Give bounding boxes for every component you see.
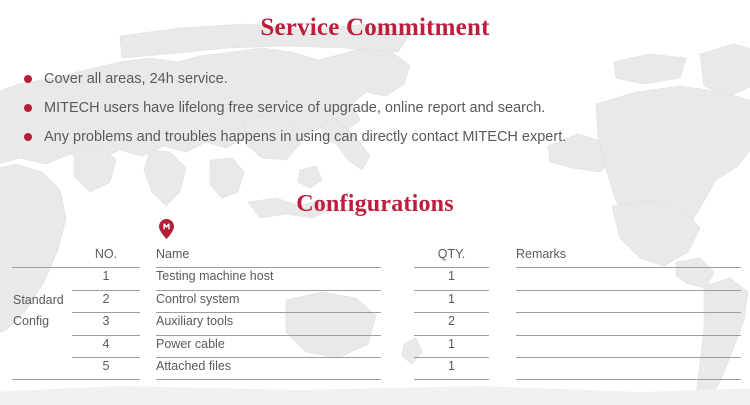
cell-name: Attached files <box>156 358 381 380</box>
list-item-label: MITECH users have lifelong free service … <box>44 100 545 116</box>
header-cell-group <box>12 246 72 268</box>
list-item: MITECH users have lifelong free service … <box>24 93 724 122</box>
cell-remarks <box>516 358 741 380</box>
list-item: Cover all areas, 24h service. <box>24 64 724 93</box>
cell-qty: 1 <box>414 336 489 358</box>
configurations-table: Standard Config NO. Name QTY. Remarks 1 … <box>12 246 738 380</box>
cell-remarks <box>516 336 741 358</box>
row-group-label: Standard Config <box>13 290 79 332</box>
row-group-label-line2: Config <box>13 311 79 332</box>
row-group-spacer <box>12 336 72 358</box>
service-commitment-list: Cover all areas, 24h service. MITECH use… <box>24 64 724 151</box>
cell-remarks <box>516 291 741 313</box>
table-row: 2 Control system 1 <box>12 291 738 313</box>
cell-no: 2 <box>72 291 140 313</box>
header-cell-no: NO. <box>72 246 140 268</box>
cell-qty: 1 <box>414 291 489 313</box>
cell-qty: 1 <box>414 268 489 290</box>
cell-remarks <box>516 313 741 335</box>
header-cell-qty: QTY. <box>414 246 489 268</box>
list-item-label: Cover all areas, 24h service. <box>44 71 228 87</box>
configurations-title: Configurations <box>0 191 750 218</box>
cell-no: 1 <box>72 268 140 290</box>
service-commitment-title: Service Commitment <box>0 14 750 42</box>
table-header-row: NO. Name QTY. Remarks <box>12 246 738 268</box>
table-row: 5 Attached files 1 <box>12 358 738 380</box>
header-cell-remarks: Remarks <box>516 246 741 268</box>
page-root: Service Commitment Cover all areas, 24h … <box>0 0 750 405</box>
cell-name: Auxiliary tools <box>156 313 381 335</box>
row-group-spacer <box>12 268 72 290</box>
cell-name: Power cable <box>156 336 381 358</box>
cell-no: 5 <box>72 358 140 380</box>
cell-qty: 1 <box>414 358 489 380</box>
list-item-label: Any problems and troubles happens in usi… <box>44 129 566 145</box>
table-row: 1 Testing machine host 1 <box>12 268 738 290</box>
cell-remarks <box>516 268 741 290</box>
table-row: 4 Power cable 1 <box>12 336 738 358</box>
cell-no: 3 <box>72 313 140 335</box>
bullet-dot-icon <box>24 133 32 141</box>
cell-name: Testing machine host <box>156 268 381 290</box>
row-group-label-line1: Standard <box>13 290 79 311</box>
header-cell-name: Name <box>156 246 381 268</box>
bullet-dot-icon <box>24 104 32 112</box>
row-group-spacer <box>12 358 72 380</box>
cell-qty: 2 <box>414 313 489 335</box>
bullet-dot-icon <box>24 75 32 83</box>
cell-name: Control system <box>156 291 381 313</box>
cell-no: 4 <box>72 336 140 358</box>
map-pin-icon <box>159 219 174 239</box>
list-item: Any problems and troubles happens in usi… <box>24 122 724 151</box>
table-row: 3 Auxiliary tools 2 <box>12 313 738 335</box>
